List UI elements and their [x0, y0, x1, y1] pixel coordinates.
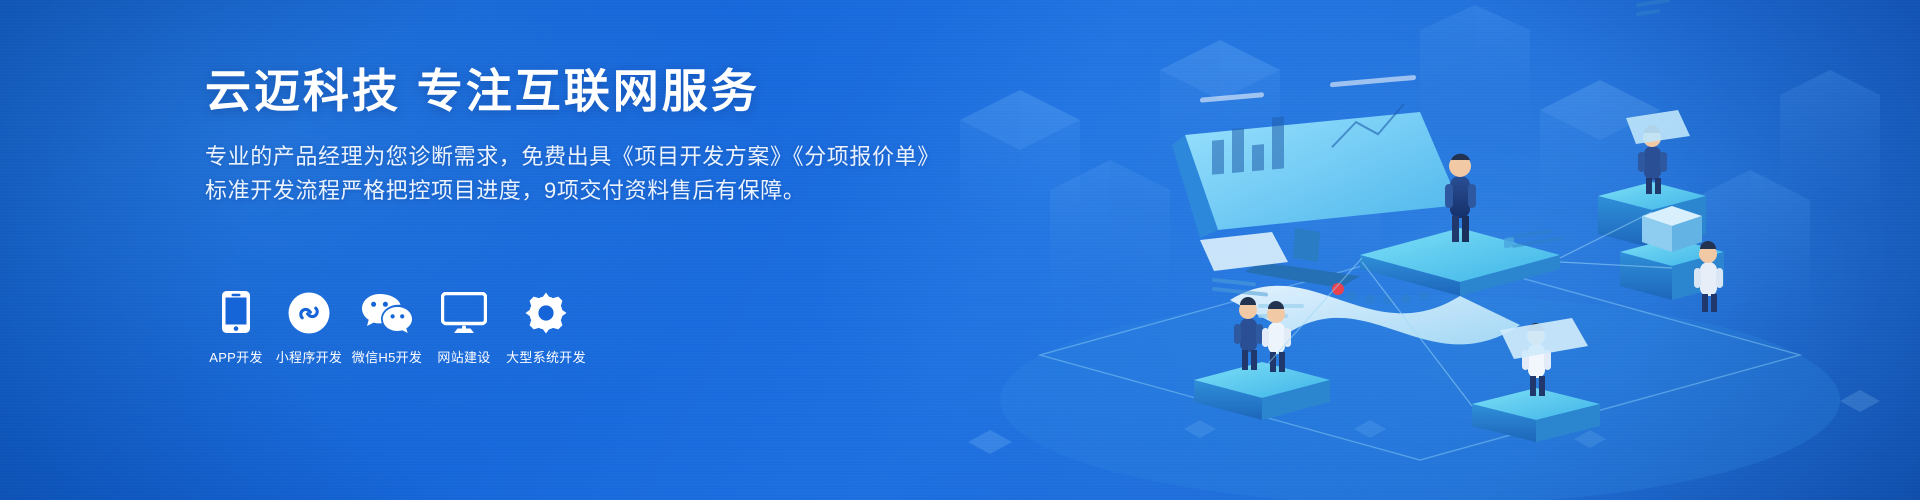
floating-panel-top-right: [1626, 0, 1690, 144]
mini-program-icon: [288, 288, 330, 334]
service-item-system[interactable]: 大型系统开发: [500, 288, 592, 366]
service-item-wechat[interactable]: 微信H5开发: [346, 288, 428, 366]
service-item-website[interactable]: 网站建设: [426, 288, 502, 366]
service-label-wechat: 微信H5开发: [352, 347, 422, 366]
platform-main: [1360, 228, 1560, 296]
subtitle-line-2: 标准开发流程严格把控项目进度，9项交付资料售后有保障。: [205, 174, 925, 208]
service-icon-row: APP开发 小程序开发: [200, 288, 592, 366]
subtitle-line-1: 专业的产品经理为您诊断需求，免费出具《项目开发方案》《分项报价单》: [205, 140, 925, 174]
hero-illustration: [900, 0, 1920, 500]
service-label-website: 网站建设: [437, 347, 490, 366]
isometric-scene: [900, 0, 1920, 500]
gear-icon: [525, 288, 567, 334]
service-label-miniprogram: 小程序开发: [276, 347, 343, 366]
service-label-app: APP开发: [209, 347, 263, 366]
page-title: 云迈科技 专注互联网服务: [205, 66, 925, 118]
hero-banner: 云迈科技 专注互联网服务 专业的产品经理为您诊断需求，免费出具《项目开发方案》《…: [0, 0, 1920, 500]
monitor-icon: [441, 288, 487, 334]
mobile-phone-icon: [221, 288, 251, 334]
hero-copy: 云迈科技 专注互联网服务 专业的产品经理为您诊断需求，免费出具《项目开发方案》《…: [205, 66, 925, 208]
service-label-system: 大型系统开发: [506, 347, 586, 366]
service-item-miniprogram[interactable]: 小程序开发: [270, 288, 348, 366]
wechat-icon: [360, 288, 414, 334]
service-item-app[interactable]: APP开发: [200, 288, 272, 366]
hero-subtitle: 专业的产品经理为您诊断需求，免费出具《项目开发方案》《分项报价单》 标准开发流程…: [205, 140, 925, 208]
